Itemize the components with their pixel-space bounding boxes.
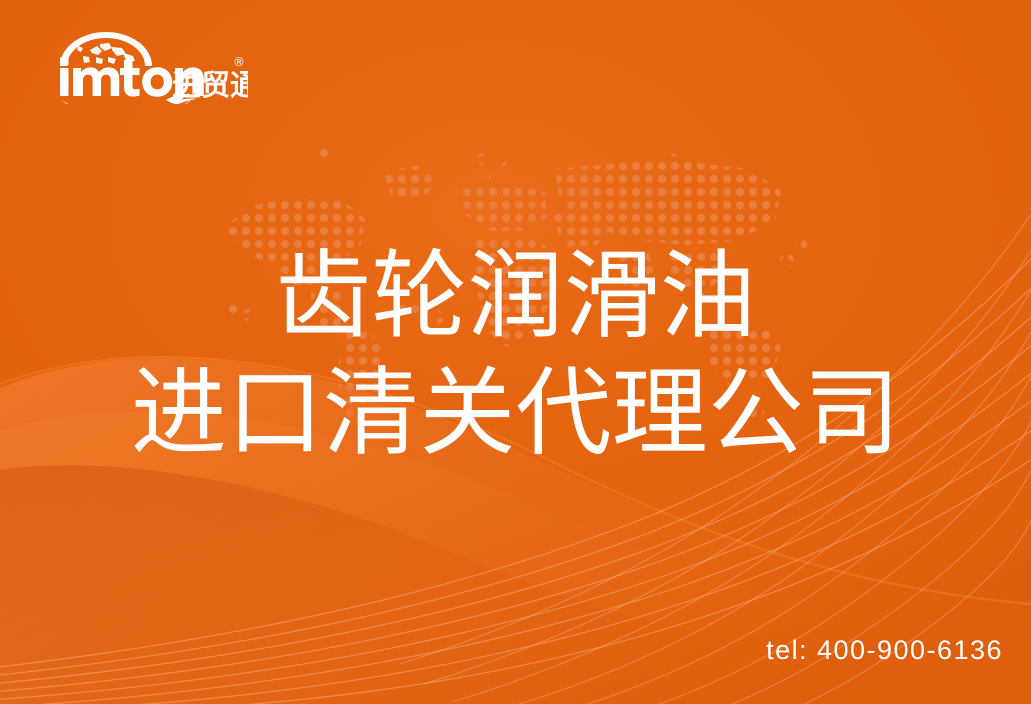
- headline-line-1: 齿轮润滑油: [0, 238, 1031, 355]
- headline-line-2: 进口清关代理公司: [0, 355, 1031, 472]
- registered-trademark-icon: ®: [233, 55, 245, 69]
- promo-banner: 进贸通 ® 齿轮润滑油 进口清关代理公司 tel: 400-900-6136: [0, 0, 1031, 704]
- headline-block: 齿轮润滑油 进口清关代理公司: [0, 238, 1031, 472]
- telephone-text: tel: 400-900-6136: [766, 635, 1003, 666]
- imton-logo: 进贸通 ®: [38, 28, 248, 104]
- logo-chinese-name: 进贸通: [172, 68, 248, 102]
